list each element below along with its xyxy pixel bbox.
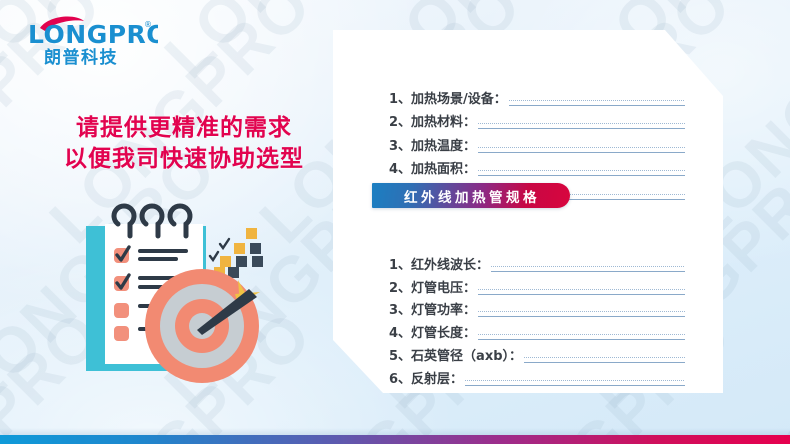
form-sheet: 1、加热场景/设备： 2、加热材料： 3、加热温度： 4、加热面积： 5、加热时…	[333, 30, 723, 393]
form-label: 2、灯管电压：	[389, 277, 476, 298]
form-row[interactable]: 6、反射层：	[389, 366, 685, 389]
form-label: 3、加热温度：	[389, 135, 476, 156]
section-banner-label: 红外线加热管规格	[388, 186, 554, 206]
footer-bar-shadow	[0, 428, 790, 435]
form-input-line[interactable]	[478, 121, 685, 129]
form-label: 4、灯管长度：	[389, 322, 476, 343]
form-input-line[interactable]	[465, 378, 685, 386]
form-row[interactable]: 1、红外线波长：	[389, 252, 685, 275]
form-label: 5、石英管径（axb）：	[389, 345, 522, 366]
slide-canvas: LONGPROLONGPROLONGPROLONGPROLONGPROLONGP…	[0, 0, 790, 444]
checkbox-empty	[114, 303, 129, 318]
form-label: 1、红外线波长：	[389, 254, 489, 275]
form-input-line[interactable]	[478, 332, 685, 340]
company-logo: LONGPRO ® 朗普科技	[18, 12, 158, 68]
form-label: 1、加热场景/设备：	[389, 88, 507, 109]
headline-line-1: 请提供更精准的需求	[50, 113, 318, 144]
watermark-text: LONGPRO	[0, 131, 21, 422]
form-label: 3、灯管功率：	[389, 299, 476, 320]
form-row[interactable]: 5、石英管径（axb）：	[389, 343, 685, 366]
logo-chinese-name: 朗普科技	[44, 47, 118, 68]
form-label: 7、接线方式：	[389, 391, 476, 412]
form-input-line[interactable]	[478, 168, 685, 176]
form-label: 6、反射层：	[389, 368, 463, 389]
checklist-target-illustration	[62, 196, 332, 394]
form-row[interactable]: 2、灯管电压：	[389, 275, 685, 298]
form-input-line[interactable]	[524, 355, 685, 363]
form-input-line[interactable]	[478, 309, 685, 317]
logo-wordmark: LONGPRO	[28, 20, 158, 49]
checkbox-checked	[114, 275, 129, 291]
page-title: 请提供更精准的需求 以便我司快速协助选型	[50, 113, 318, 174]
footer-gradient-bar	[0, 435, 790, 444]
form-row[interactable]: 7、接线方式：	[389, 389, 685, 412]
form-row[interactable]: 3、灯管功率：	[389, 298, 685, 321]
form-label: 4、加热面积：	[389, 158, 476, 179]
form-row[interactable]: 4、加热面积：	[389, 156, 685, 180]
form-input-line[interactable]	[491, 264, 685, 272]
form-row[interactable]: 4、灯管长度：	[389, 320, 685, 343]
form-row[interactable]: 3、加热温度：	[389, 132, 685, 156]
watermark-text: LONGPRO	[780, 0, 790, 92]
dartboard-icon	[145, 269, 259, 383]
lamp-specs-list: 1、红外线波长： 2、灯管电压： 3、灯管功率： 4、灯管长度： 5、石英管径（…	[333, 252, 723, 434]
section-banner: 红外线加热管规格	[372, 183, 570, 208]
form-input-line[interactable]	[478, 401, 685, 409]
form-input-line[interactable]	[478, 287, 685, 295]
form-row[interactable]: 2、加热材料：	[389, 109, 685, 133]
form-label: 2、加热材料：	[389, 111, 476, 132]
form-row[interactable]: 1、加热场景/设备：	[389, 85, 685, 109]
form-input-line[interactable]	[509, 98, 685, 106]
form-input-line[interactable]	[478, 145, 685, 153]
watermark-text: LONGPRO	[780, 131, 790, 422]
registered-mark: ®	[144, 20, 152, 29]
checkbox-empty	[114, 326, 129, 341]
square-tiles	[210, 228, 263, 278]
headline-line-2: 以便我司快速协助选型	[50, 144, 318, 175]
checkbox-checked	[114, 247, 129, 263]
